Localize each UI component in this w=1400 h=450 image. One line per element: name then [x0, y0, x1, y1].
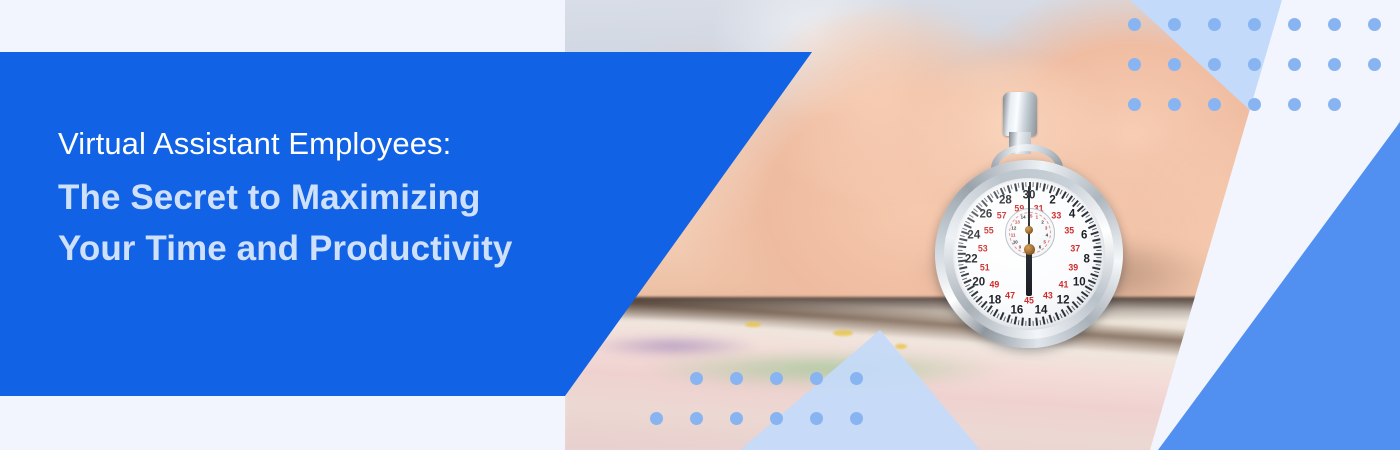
decor-dot	[1288, 98, 1301, 111]
subdial-pivot	[1025, 226, 1033, 234]
dial-numeral-red: 55	[984, 226, 994, 235]
decor-dot	[1208, 58, 1221, 71]
dial-numeral: 14	[1035, 305, 1048, 317]
dial-numeral: 6	[1081, 230, 1087, 242]
dial-numeral: 10	[1073, 277, 1086, 289]
dial-numeral: 28	[999, 195, 1012, 207]
dial-numeral: 24	[967, 230, 980, 242]
dial-numeral: 2	[1049, 195, 1055, 207]
dial-numeral-red: 39	[1068, 264, 1078, 273]
decor-dot	[650, 412, 663, 425]
dial-numeral: 22	[965, 254, 978, 266]
dial-numeral-red: 33	[1051, 212, 1061, 221]
stopwatch-pivot	[1024, 244, 1035, 255]
decor-dot	[1248, 98, 1261, 111]
dial-numeral-red: 41	[1059, 281, 1069, 290]
dial-numeral: 12	[1057, 295, 1070, 307]
dial-numeral-red: 37	[1070, 245, 1080, 254]
dial-numeral: 8	[1083, 254, 1089, 266]
dial-numeral: 4	[1069, 209, 1075, 221]
decor-dot	[770, 412, 783, 425]
decor-dot	[1208, 98, 1221, 111]
dial-numeral: 26	[979, 209, 992, 221]
decor-dot	[730, 412, 743, 425]
highlight-speck	[745, 322, 761, 327]
dial-numeral-red: 35	[1064, 226, 1074, 235]
stopwatch-crown	[1003, 92, 1037, 136]
decor-dot	[1248, 58, 1261, 71]
subdial-numeral: 6	[1039, 244, 1041, 249]
decor-dot	[1328, 18, 1341, 31]
decor-dot	[810, 412, 823, 425]
decor-dot	[690, 372, 703, 385]
decor-dot	[1208, 18, 1221, 31]
headline-line-1: Virtual Assistant Employees:	[58, 128, 678, 159]
dial-numeral-red: 43	[1043, 292, 1053, 301]
decor-dot	[1288, 18, 1301, 31]
dial-numeral-red: 51	[980, 264, 990, 273]
subdial-numeral: 10	[1013, 239, 1018, 244]
highlight-speck	[833, 330, 853, 336]
dial-numeral-red: 45	[1024, 296, 1034, 305]
subdial-numeral: 4	[1046, 232, 1048, 237]
decor-dot	[690, 412, 703, 425]
decor-dot	[730, 372, 743, 385]
dial-numeral-red: 53	[978, 245, 988, 254]
subdial-numeral: 2	[1041, 219, 1043, 224]
stopwatch-dial: 2468101214161820222426283031333537394143…	[953, 178, 1105, 330]
decor-dot	[770, 372, 783, 385]
banner-root: 2468101214161820222426283031333537394143…	[0, 0, 1400, 450]
decor-dot	[1368, 58, 1381, 71]
dial-numeral-red: 57	[997, 212, 1007, 221]
decor-dot	[850, 412, 863, 425]
decor-dot	[1328, 98, 1341, 111]
dial-numeral-red: 49	[990, 281, 1000, 290]
decor-dot	[1168, 98, 1181, 111]
subdial-numeral: 5	[1043, 239, 1045, 244]
subdial-numeral: 13	[1015, 219, 1020, 224]
bottom-center-dots	[650, 372, 890, 450]
decor-dot	[850, 372, 863, 385]
decor-dot	[1328, 58, 1341, 71]
subdial-numeral: 1	[1036, 215, 1038, 220]
decor-dot	[1368, 18, 1381, 31]
decor-dot	[1128, 58, 1141, 71]
subdial-numeral: 14	[1021, 215, 1026, 220]
decor-dot	[1248, 18, 1261, 31]
decor-dot	[1288, 58, 1301, 71]
headline-line-2: The Secret to Maximizing	[58, 180, 678, 215]
decor-dot	[1168, 58, 1181, 71]
top-right-dots	[1128, 18, 1400, 98]
subdial-numeral: 11	[1011, 232, 1016, 237]
subdial-numeral: 9	[1019, 244, 1021, 249]
dial-numeral: 20	[972, 277, 985, 289]
stopwatch: 2468101214161820222426283031333537394143…	[935, 92, 1130, 347]
decor-dot	[1168, 18, 1181, 31]
dial-numeral: 18	[989, 295, 1002, 307]
decor-dot	[810, 372, 823, 385]
headline-block: Virtual Assistant Employees: The Secret …	[58, 128, 678, 266]
subdial-numeral: 12	[1011, 225, 1016, 230]
headline-line-3: Your Time and Productivity	[58, 231, 678, 266]
decor-dot	[1128, 18, 1141, 31]
subdial-numeral: 3	[1045, 225, 1047, 230]
dial-numeral: 16	[1011, 305, 1024, 317]
highlight-speck	[895, 344, 907, 349]
decor-dot	[1128, 98, 1141, 111]
dial-numeral-red: 47	[1005, 292, 1015, 301]
